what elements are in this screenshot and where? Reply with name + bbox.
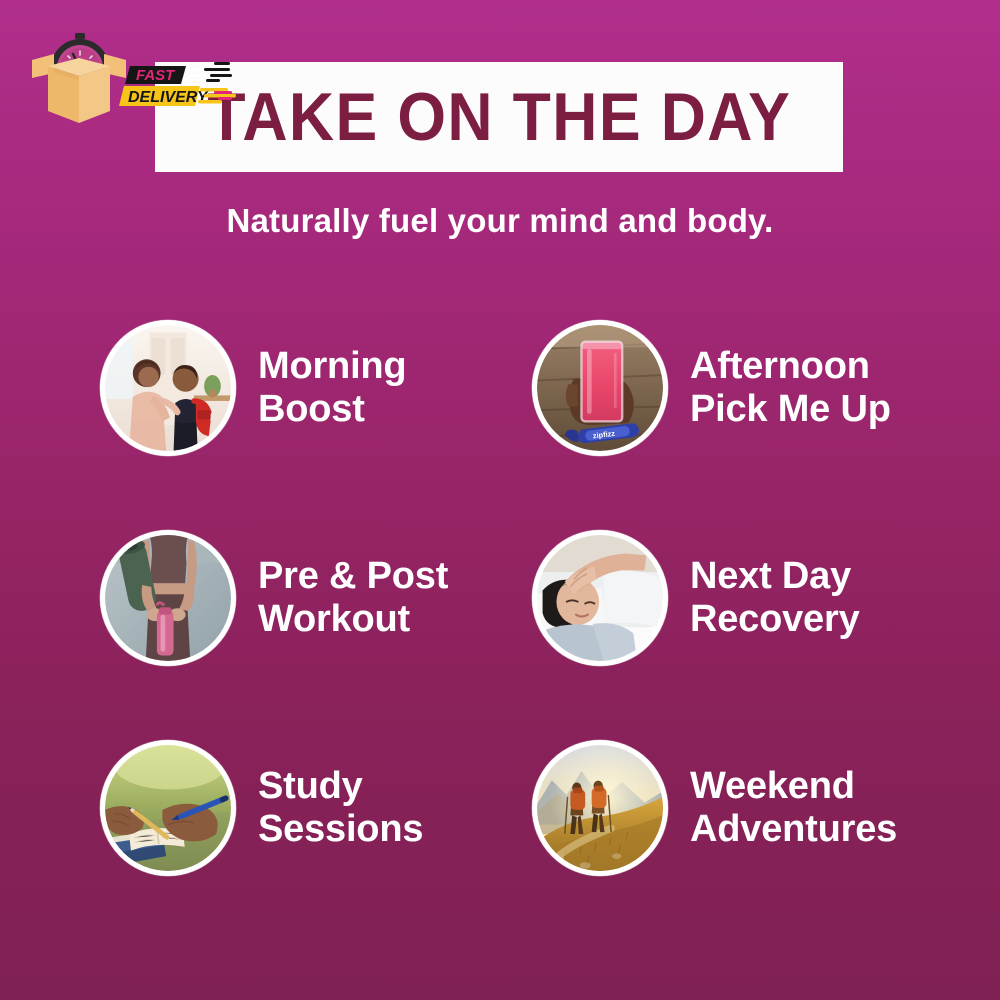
use-case-label-pre-and-post-workout: Pre & Post Workout [258,555,448,642]
photo-hand-holding-pink-drink-with-zipfizz-tube: zipfizz [537,325,663,451]
use-case-image-weekend-adventures [532,740,668,876]
use-case-image-next-day-recovery [532,530,668,666]
photo-woman-resting-in-bed-hand-on-forehead [537,535,663,661]
use-case-image-morning-boost [100,320,236,456]
fast-delivery-logo: FAST DELIVERY [18,28,248,138]
use-case-item-next-day-recovery[interactable]: Next Day Recovery [532,530,962,666]
use-case-grid: Morning Boost [0,300,1000,920]
delivery-banner: DELIVERY [119,86,236,106]
use-case-label-morning-boost: Morning Boost [258,345,406,432]
subtitle: Naturally fuel your mind and body. [0,202,1000,240]
photo-parent-and-child-with-backpack [105,325,231,451]
photo-two-hikers-on-sunlit-mountain-trail [537,745,663,871]
photo-hands-writing-in-notebook-outdoors [105,745,231,871]
use-case-item-pre-and-post-workout[interactable]: Pre & Post Workout [100,530,520,666]
use-case-item-afternoon-pick-me-up[interactable]: zipfizz Afternoon Pick Me Up [532,320,962,456]
fast-banner: FAST [125,62,232,84]
use-case-image-afternoon-pick-me-up: zipfizz [532,320,668,456]
use-case-label-weekend-adventures: Weekend Adventures [690,765,897,852]
svg-text:DELIVERY: DELIVERY [128,89,209,106]
use-case-image-pre-and-post-workout [100,530,236,666]
photo-woman-with-yoga-mat-and-pink-bottle [105,535,231,661]
title-banner: TAKE ON THE DAY [155,62,843,172]
promo-poster: FAST DELIVERY [0,0,1000,1000]
use-case-label-afternoon-pick-me-up: Afternoon Pick Me Up [690,345,891,432]
use-case-label-study-sessions: Study Sessions [258,765,423,852]
use-case-item-weekend-adventures[interactable]: Weekend Adventures [532,740,962,876]
use-case-label-next-day-recovery: Next Day Recovery [690,555,860,642]
page-title: TAKE ON THE DAY [207,83,791,151]
use-case-image-study-sessions [100,740,236,876]
use-case-item-study-sessions[interactable]: Study Sessions [100,740,520,876]
svg-text:FAST: FAST [136,67,176,84]
use-case-item-morning-boost[interactable]: Morning Boost [100,320,520,456]
cardboard-box-icon [32,54,126,123]
